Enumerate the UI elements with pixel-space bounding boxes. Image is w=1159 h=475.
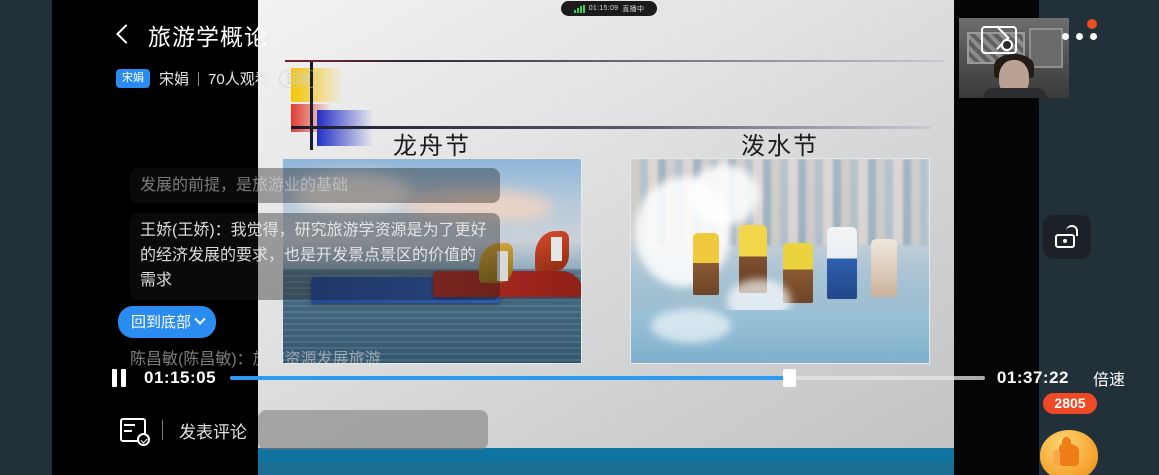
slide-title-left: 龙舟节	[258, 126, 606, 161]
total-time: 01:37:22	[997, 368, 1069, 388]
comment-divider	[162, 420, 163, 440]
player-header: 旅游学概论 宋娟 宋娟 70人观看 回放	[0, 18, 600, 89]
current-time: 01:15:05	[144, 368, 216, 388]
unlock-icon[interactable]	[1043, 215, 1091, 259]
header-divider	[198, 72, 199, 86]
status-badge: 回放	[279, 70, 319, 88]
viewer-count: 70人观看	[208, 68, 270, 89]
water-splash-image	[630, 158, 930, 364]
signal-bars-icon	[574, 5, 585, 13]
status-time: 01:15:09	[589, 5, 619, 12]
chevron-down-icon	[194, 313, 205, 324]
progress-thumb[interactable]	[783, 369, 796, 387]
teacher-name: 宋娟	[159, 68, 189, 89]
playback-speed-button[interactable]: 倍速	[1093, 366, 1125, 390]
back-to-bottom-label: 回到底部	[131, 311, 191, 332]
back-chevron-icon[interactable]	[112, 24, 134, 46]
slide-bottom-band	[258, 448, 954, 475]
chat-message-faded: 发展的前提，是旅游业的基础	[130, 168, 500, 203]
player-controls: 01:15:05 01:37:22 倍速	[0, 364, 1159, 392]
chat-message: 王娇(王娇)：我觉得，研究旅游学资源是为了更好的经济发展的要求，也是开发景点景区…	[130, 213, 500, 299]
system-status-pill: 01:15:09 直播中	[561, 1, 657, 16]
comment-sheet-check-icon[interactable]	[120, 418, 146, 442]
slide-titles: 龙舟节 泼水节	[258, 126, 954, 161]
notification-dot	[1087, 19, 1097, 29]
comment-bar: 发表评论	[0, 412, 520, 448]
pip-expand-icon[interactable]	[981, 26, 1017, 54]
like-count-badge: 2805	[1043, 393, 1097, 414]
pip-shelf-right	[1029, 28, 1063, 68]
more-dots-icon[interactable]	[1062, 33, 1097, 40]
presenter-pip[interactable]	[959, 18, 1069, 98]
slide-title-right: 泼水节	[606, 126, 954, 161]
avatar[interactable]: 宋娟	[116, 69, 150, 88]
like-button[interactable]: 2805	[1040, 392, 1102, 464]
back-to-bottom-button[interactable]: 回到底部	[118, 306, 216, 338]
status-live-label: 直播中	[622, 4, 644, 14]
pip-presenter-body	[983, 88, 1047, 98]
progress-slider[interactable]	[230, 376, 985, 380]
comment-input[interactable]: 发表评论	[179, 418, 247, 443]
progress-fill	[230, 376, 789, 380]
live-class-player: 龙舟节 泼水节	[0, 0, 1159, 475]
thumbs-up-icon	[1053, 440, 1083, 470]
page-title: 旅游学概论	[148, 18, 268, 52]
pause-icon[interactable]	[112, 369, 128, 387]
chat-overlay[interactable]: 发展的前提，是旅游业的基础 王娇(王娇)：我觉得，研究旅游学资源是为了更好的经济…	[130, 168, 500, 310]
